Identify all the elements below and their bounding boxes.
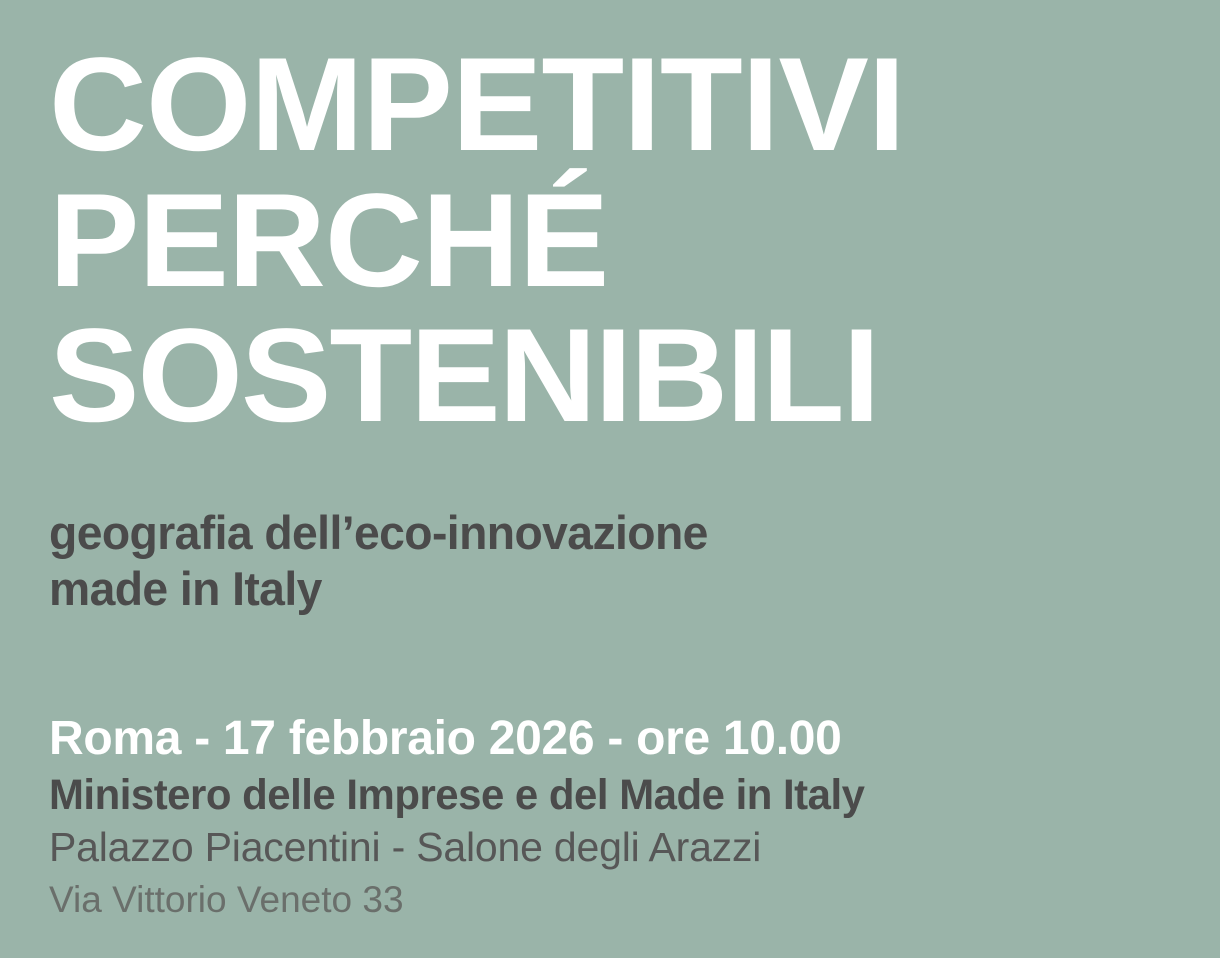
event-organization: Ministero delle Imprese e del Made in It… (49, 770, 1161, 820)
subtitle-block: geografia dell’eco-innovazione made in I… (49, 505, 1169, 617)
headline-line-2: PERCHÉ (49, 176, 1212, 308)
event-street-address: Via Vittorio Veneto 33 (49, 878, 1189, 922)
headline-line-1: COMPETITIVI (49, 40, 1212, 172)
event-date-line: Roma - 17 febbraio 2026 - ore 10.00 (49, 712, 1189, 766)
subtitle-line-2: made in Italy (49, 561, 1152, 617)
event-hall: Palazzo Piacentini - Salone degli Arazzi (49, 824, 1189, 872)
headline-block: COMPETITIVI PERCHÉ SOSTENIBILI (49, 40, 1189, 443)
subtitle-line-1: geografia dell’eco-innovazione (49, 505, 1152, 561)
event-details-block: Roma - 17 febbraio 2026 - ore 10.00 Mini… (49, 712, 1189, 922)
poster-canvas: COMPETITIVI PERCHÉ SOSTENIBILI geografia… (0, 0, 1220, 958)
headline-line-3: SOSTENIBILI (49, 311, 1212, 443)
